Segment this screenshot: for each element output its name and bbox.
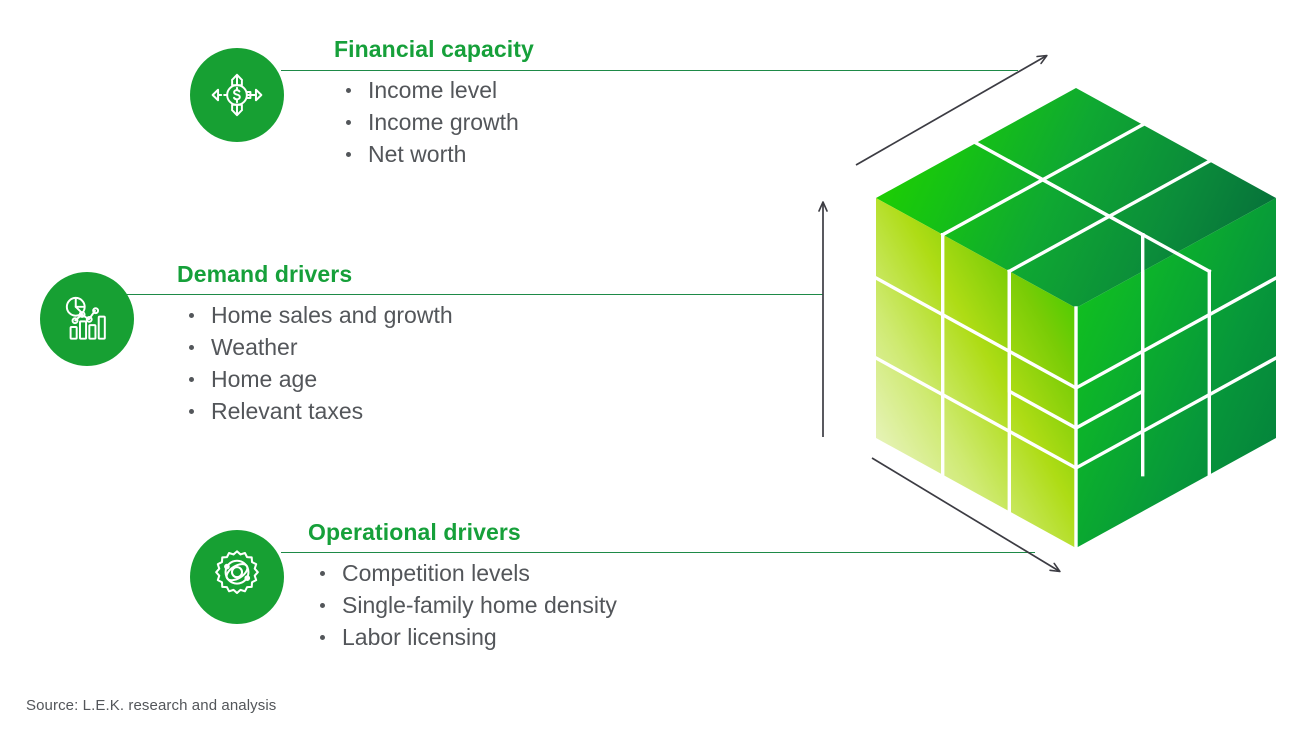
gear-settings-icon [206, 546, 268, 608]
diagram-canvas: Financial capacity Income level Income g… [0, 0, 1300, 733]
list-item: Income level [338, 74, 534, 106]
group-operational-drivers: Operational drivers Competition levels S… [308, 519, 617, 653]
money-expand-icon [207, 65, 267, 125]
bullet-list-operational-drivers: Competition levels Single-family home de… [312, 557, 617, 653]
list-item: Income growth [338, 106, 534, 138]
group-demand-drivers: Demand drivers Home sales and growth Wea… [177, 261, 453, 427]
analytics-chart-icon [57, 289, 117, 349]
list-item: Home sales and growth [181, 299, 453, 331]
group-title-financial-capacity: Financial capacity [334, 36, 534, 62]
source-note: Source: L.E.K. research and analysis [26, 697, 276, 714]
list-item: Net worth [338, 138, 534, 170]
list-item: Labor licensing [312, 621, 617, 653]
bullet-list-financial-capacity: Income level Income growth Net worth [338, 74, 534, 170]
group-financial-capacity: Financial capacity Income level Income g… [334, 36, 534, 170]
isometric-cube [860, 70, 1290, 570]
icon-badge-demand-drivers [40, 272, 134, 366]
list-item: Relevant taxes [181, 395, 453, 427]
market-cube-graphic [860, 70, 1290, 570]
icon-badge-financial-capacity [190, 48, 284, 142]
group-title-operational-drivers: Operational drivers [308, 519, 617, 545]
list-item: Home age [181, 363, 453, 395]
icon-badge-operational-drivers [190, 530, 284, 624]
list-item: Competition levels [312, 557, 617, 589]
list-item: Weather [181, 331, 453, 363]
list-item: Single-family home density [312, 589, 617, 621]
bullet-list-demand-drivers: Home sales and growth Weather Home age R… [181, 299, 453, 427]
group-title-demand-drivers: Demand drivers [177, 261, 453, 287]
